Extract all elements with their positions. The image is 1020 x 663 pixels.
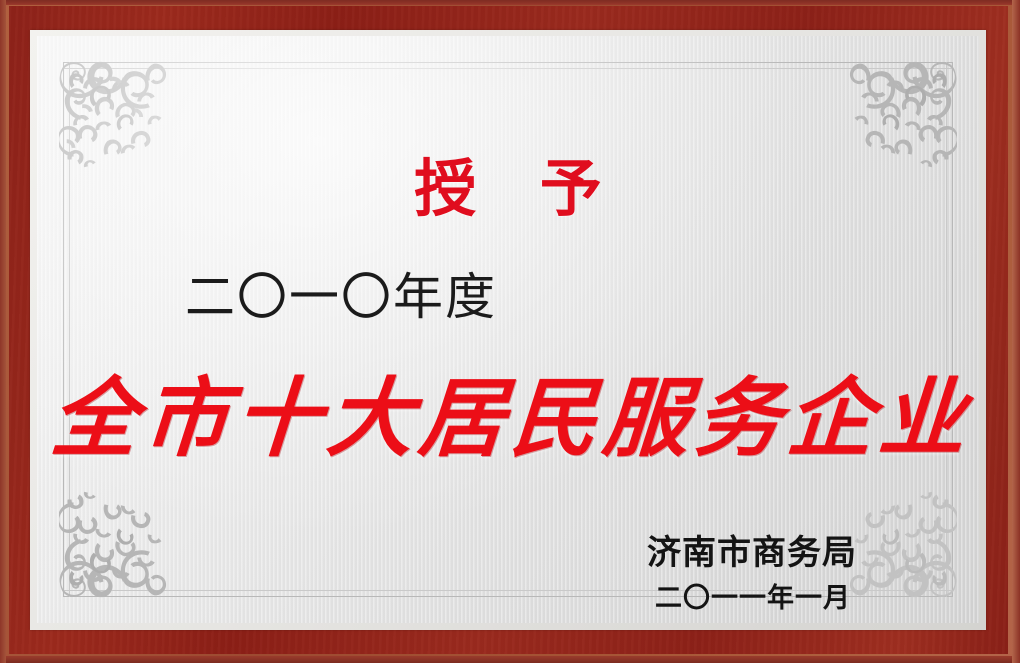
frame-rim-top: [0, 0, 1020, 5]
frame-rim-bottom: [0, 656, 1020, 663]
award-year-line: 二〇一〇年度: [185, 272, 497, 322]
award-title: 全市十大居民服务企业: [37, 372, 979, 467]
plaque-content: 授 予 二〇一〇年度 全市十大居民服务企业 济南市商务局 二〇一一年一月: [37, 36, 979, 623]
award-verb: 授 予: [37, 159, 979, 221]
frame-rim-right: [1012, 0, 1020, 663]
award-plaque: 授 予 二〇一〇年度 全市十大居民服务企业 济南市商务局 二〇一一年一月: [0, 0, 1020, 663]
plaque-plate: 授 予 二〇一〇年度 全市十大居民服务企业 济南市商务局 二〇一一年一月: [37, 36, 979, 623]
issuing-authority: 济南市商务局: [647, 536, 857, 570]
issue-date: 二〇一一年一月: [655, 585, 851, 612]
frame-rim-left: [0, 0, 6, 663]
